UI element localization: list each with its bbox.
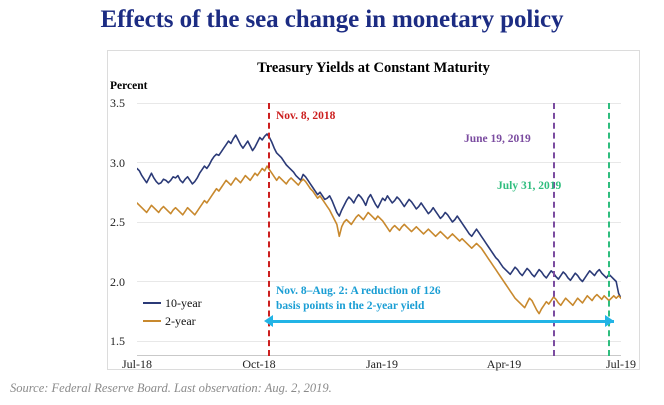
y-tick-label: 2.0 [110, 275, 136, 290]
gridline-1-5 [137, 341, 621, 342]
event-label-june-19-2019: June 19, 2019 [464, 133, 531, 145]
y-tick-label: 3.0 [110, 156, 136, 171]
chart-annotation-line-2: basis points in the 2-year yield [276, 299, 506, 314]
x-tick-label: Jul-19 [586, 357, 656, 372]
x-tick-label: Apr-19 [469, 357, 539, 372]
legend-label-2-year: 2-year [165, 314, 196, 329]
legend-swatch-10-year [143, 302, 161, 305]
x-tick-label: Jan-19 [347, 357, 417, 372]
annotation-arrow-line [270, 320, 614, 323]
x-axis-line [137, 355, 621, 356]
source-note: Source: Federal Reserve Board. Last obse… [10, 381, 332, 396]
x-tick-label: Oct-18 [224, 357, 294, 372]
legend-label-10-year: 10-year [165, 296, 202, 311]
event-label-july-31-2019: July 31, 2019 [497, 180, 561, 192]
annotation-arrow-right-head-icon [605, 315, 614, 327]
y-tick-label: 1.5 [110, 334, 136, 349]
slide-root: Effects of the sea change in monetary po… [0, 0, 664, 405]
legend-item-10-year: 10-year [143, 294, 202, 312]
page-title: Effects of the sea change in monetary po… [0, 6, 664, 34]
chart-annotation: Nov. 8–Aug. 2: A reduction of 126 basis … [276, 284, 506, 314]
chart-annotation-line-1: Nov. 8–Aug. 2: A reduction of 126 [276, 284, 506, 299]
y-axis-label: Percent [110, 80, 147, 92]
legend-item-2-year: 2-year [143, 312, 202, 330]
x-tick-label: Jul-18 [102, 357, 172, 372]
event-line-june-19-2019 [553, 103, 555, 356]
y-tick-label: 2.5 [110, 215, 136, 230]
series-line-10-year [137, 134, 621, 298]
chart-title: Treasury Yields at Constant Maturity [107, 60, 640, 77]
chart-legend: 10-year 2-year [143, 294, 202, 330]
y-tick-label: 3.5 [110, 96, 136, 111]
legend-swatch-2-year [143, 320, 161, 323]
annotation-arrow-left-head-icon [264, 315, 273, 327]
event-label-nov-8-2018: Nov. 8, 2018 [276, 110, 335, 122]
